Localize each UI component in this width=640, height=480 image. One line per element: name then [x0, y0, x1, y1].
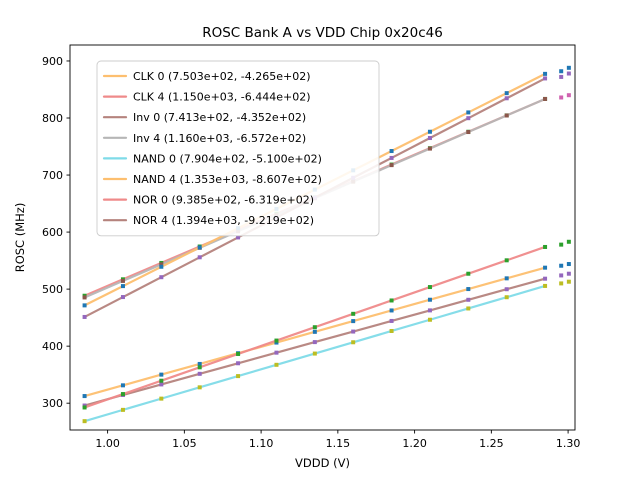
series-marker	[351, 340, 355, 344]
series-marker	[505, 113, 509, 117]
series-marker	[121, 383, 125, 387]
rosc-chart-figure: ROSC Bank A vs VDD Chip 0x20c461.001.051…	[0, 0, 640, 480]
series-marker	[390, 298, 394, 302]
x-tick-label: 1.30	[556, 437, 581, 450]
scatter-marker	[567, 280, 571, 284]
series-marker	[390, 156, 394, 160]
series-marker	[466, 110, 470, 114]
series-marker	[198, 365, 202, 369]
series-marker	[428, 318, 432, 322]
series-marker	[236, 374, 240, 378]
series-marker	[428, 298, 432, 302]
series-marker	[274, 351, 278, 355]
series-marker	[505, 276, 509, 280]
scatter-marker	[559, 69, 563, 73]
series-marker	[505, 96, 509, 100]
x-tick-label: 1.00	[95, 437, 120, 450]
legend-label: NOR 0 (9.385e+02, -6.319e+02)	[133, 194, 314, 207]
scatter-marker	[567, 72, 571, 76]
scatter-marker	[567, 272, 571, 276]
series-marker	[313, 352, 317, 356]
legend-label: CLK 4 (1.150e+03, -6.444e+02)	[133, 91, 311, 104]
series-marker	[351, 330, 355, 334]
scatter-marker	[559, 264, 563, 268]
series-marker	[543, 284, 547, 288]
series-marker	[466, 298, 470, 302]
scatter-marker	[567, 93, 571, 97]
series-marker	[543, 277, 547, 281]
series-marker	[121, 279, 125, 283]
series-marker	[543, 76, 547, 80]
y-tick-label: 400	[42, 340, 63, 353]
series-marker	[274, 339, 278, 343]
series-marker	[543, 72, 547, 76]
series-marker	[351, 319, 355, 323]
series-marker	[83, 394, 87, 398]
scatter-marker	[559, 281, 563, 285]
legend-label: NAND 0 (7.904e+02, -5.100e+02)	[133, 152, 322, 165]
legend-label: NOR 4 (1.394e+03, -9.219e+02)	[133, 214, 314, 227]
series-marker	[159, 382, 163, 386]
series-marker	[83, 295, 87, 299]
series-marker	[505, 258, 509, 262]
series-marker	[466, 130, 470, 134]
series-marker	[121, 408, 125, 412]
y-tick-label: 900	[42, 55, 63, 68]
series-marker	[428, 308, 432, 312]
scatter-marker	[559, 243, 563, 247]
series-marker	[390, 163, 394, 167]
series-marker	[505, 295, 509, 299]
series-marker	[543, 245, 547, 249]
series-marker	[390, 329, 394, 333]
series-marker	[83, 303, 87, 307]
x-tick-label: 1.10	[249, 437, 274, 450]
series-marker	[313, 330, 317, 334]
legend-label: Inv 4 (1.160e+03, -6.572e+02)	[133, 132, 306, 145]
series-marker	[159, 379, 163, 383]
series-marker	[159, 397, 163, 401]
series-marker	[159, 373, 163, 377]
series-marker	[198, 245, 202, 249]
series-marker	[313, 325, 317, 329]
x-tick-label: 1.20	[402, 437, 427, 450]
series-marker	[236, 361, 240, 365]
legend-label: Inv 0 (7.413e+02, -4.352e+02)	[133, 111, 306, 124]
series-marker	[505, 287, 509, 291]
series-marker	[121, 392, 125, 396]
scatter-marker	[567, 66, 571, 70]
series-marker	[466, 116, 470, 120]
chart-title: ROSC Bank A vs VDD Chip 0x20c46	[202, 25, 443, 41]
series-marker	[351, 312, 355, 316]
series-marker	[198, 255, 202, 259]
y-tick-label: 500	[42, 283, 63, 296]
series-marker	[466, 272, 470, 276]
y-axis-label: ROSC (MHz)	[13, 203, 27, 273]
x-tick-label: 1.05	[172, 437, 197, 450]
legend-box	[97, 61, 379, 236]
series-marker	[390, 319, 394, 323]
series-marker	[313, 340, 317, 344]
y-tick-label: 300	[42, 397, 63, 410]
series-marker	[159, 275, 163, 279]
series-marker	[159, 265, 163, 269]
series-marker	[390, 149, 394, 153]
x-tick-label: 1.15	[326, 437, 351, 450]
series-marker	[543, 266, 547, 270]
y-tick-label: 800	[42, 112, 63, 125]
scatter-marker	[567, 240, 571, 244]
scatter-marker	[559, 75, 563, 79]
series-marker	[198, 385, 202, 389]
x-axis-label: VDDD (V)	[295, 456, 350, 470]
series-marker	[428, 136, 432, 140]
series-marker	[121, 284, 125, 288]
legend-label: NAND 4 (1.353e+03, -8.607e+02)	[133, 173, 322, 186]
series-marker	[505, 91, 509, 95]
series-marker	[428, 147, 432, 151]
series-marker	[236, 352, 240, 356]
series-marker	[428, 130, 432, 134]
x-tick-label: 1.25	[479, 437, 504, 450]
y-tick-label: 700	[42, 169, 63, 182]
legend-label: CLK 0 (7.503e+02, -4.265e+02)	[133, 70, 311, 83]
scatter-marker	[567, 262, 571, 266]
scatter-marker	[559, 273, 563, 277]
series-marker	[390, 308, 394, 312]
series-marker	[543, 97, 547, 101]
series-marker	[466, 287, 470, 291]
series-marker	[83, 419, 87, 423]
scatter-marker	[559, 95, 563, 99]
series-marker	[274, 363, 278, 367]
series-marker	[121, 295, 125, 299]
series-marker	[466, 306, 470, 310]
series-marker	[83, 405, 87, 409]
series-marker	[428, 285, 432, 289]
series-marker	[198, 372, 202, 376]
y-tick-label: 600	[42, 226, 63, 239]
series-marker	[83, 315, 87, 319]
